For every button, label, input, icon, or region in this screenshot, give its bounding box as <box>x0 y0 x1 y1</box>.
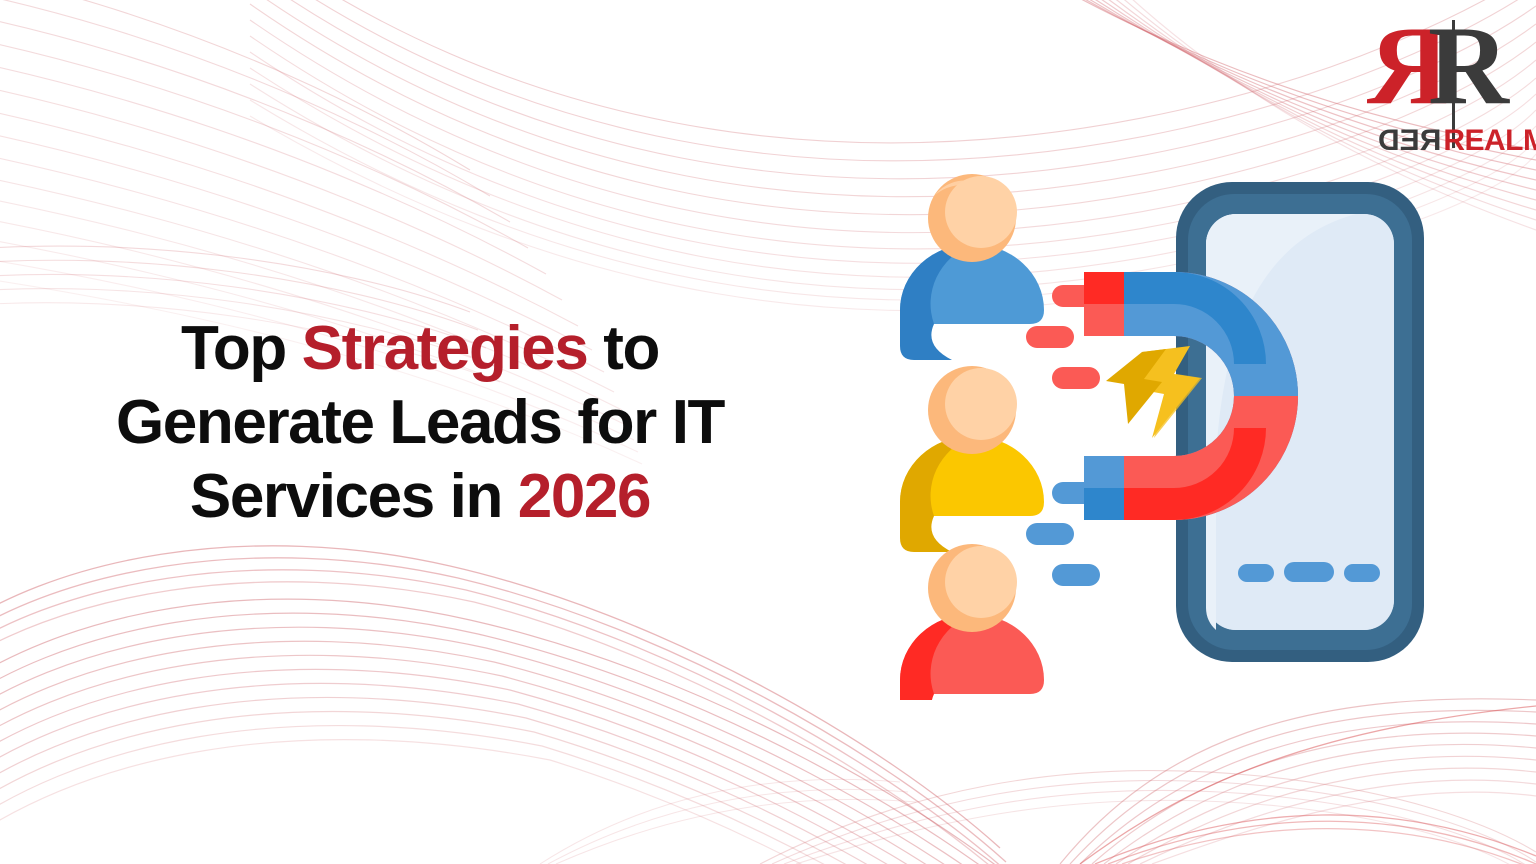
magnet-top-tip-icon <box>1084 272 1124 336</box>
brand-logo[interactable]: R R RED REALM <box>1362 24 1522 164</box>
logo-wordmark: RED REALM <box>1362 124 1522 158</box>
banner-canvas: Top Strategies to Generate Leads for IT … <box>0 0 1536 864</box>
logo-word-red: RED <box>1378 124 1441 158</box>
logo-normal-r-icon: R <box>1428 16 1507 116</box>
magnet-bottom-tip-icon <box>1084 456 1124 520</box>
phone-home-dashes-icon <box>1238 562 1380 582</box>
title-accent-year: 2026 <box>518 462 650 531</box>
title-line1-part2: to <box>587 314 659 383</box>
title-line-2: Generate Leads for IT <box>20 386 820 460</box>
person-blue-icon <box>900 174 1044 360</box>
smartphone-icon <box>1176 182 1424 662</box>
title-line-1: Top Strategies to <box>20 312 820 386</box>
horseshoe-magnet-icon <box>1084 272 1266 520</box>
title-line1-part1: Top <box>181 314 302 383</box>
logo-word-realm: REALM <box>1443 124 1536 158</box>
person-red-icon <box>900 544 1044 700</box>
logo-mark: R R <box>1362 24 1522 124</box>
title-accent-strategies: Strategies <box>302 314 588 383</box>
page-title: Top Strategies to Generate Leads for IT … <box>20 312 820 534</box>
title-line-3: Services in 2026 <box>20 460 820 534</box>
person-yellow-icon <box>900 366 1044 552</box>
lead-magnet-illustration <box>880 160 1440 700</box>
title-line3-part1: Services in <box>190 462 518 531</box>
